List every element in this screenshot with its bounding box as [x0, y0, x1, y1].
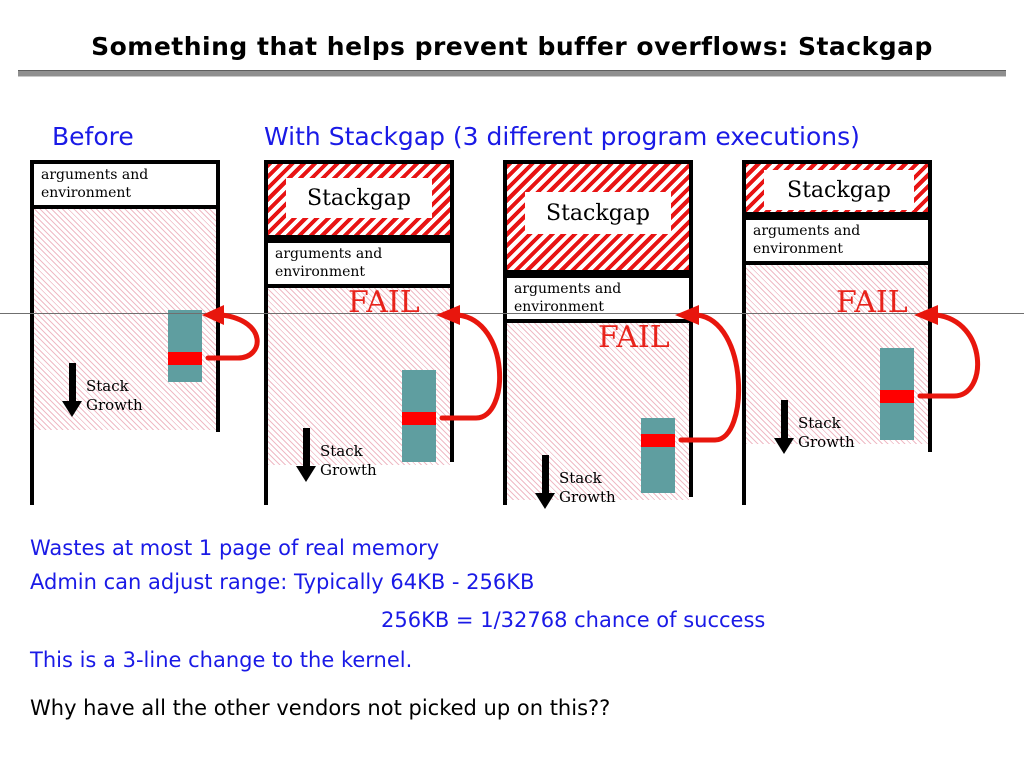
stack-growth-shaft — [303, 428, 310, 466]
heading-before: Before — [52, 122, 134, 151]
stackgap-region-execution-1: Stackgap — [268, 160, 450, 239]
box-top-border-execution-1 — [264, 160, 454, 164]
stack-growth-arrowhead-icon — [774, 438, 794, 454]
args-bottom-border-before — [30, 205, 220, 209]
stack-growth-arrowhead-icon — [296, 466, 316, 482]
args-env-box-execution-3: arguments and environment — [746, 220, 928, 264]
heading-with-stackgap: With Stackgap (3 different program execu… — [264, 122, 860, 151]
args-bottom-border-execution-3 — [742, 261, 932, 265]
stack-growth-label-line1: Stack — [86, 377, 129, 396]
box-top-border-execution-2 — [503, 160, 693, 164]
args-env-box-before: arguments and environment — [34, 164, 216, 208]
stack-growth-label-line2: Growth — [798, 433, 855, 452]
box-top-border-execution-3 — [742, 160, 932, 164]
stack-growth-label-line1: Stack — [320, 442, 363, 461]
stack-growth-label-line1: Stack — [798, 414, 841, 433]
overflow-arrow-execution-3 — [902, 295, 1012, 415]
bullet-line-3: 256KB = 1/32768 chance of success — [381, 608, 765, 632]
stack-growth-shaft — [542, 455, 549, 493]
stack-growth-label-line2: Growth — [86, 396, 143, 415]
stack-growth-label-line2: Growth — [320, 461, 377, 480]
bullet-line-2: Admin can adjust range: Typically 64KB -… — [30, 570, 534, 594]
page-title: Something that helps prevent buffer over… — [0, 32, 1024, 61]
stackgap-label-execution-2: Stackgap — [525, 192, 671, 234]
stackgap-region-execution-2: Stackgap — [507, 160, 689, 274]
stackgap-label-execution-1: Stackgap — [286, 178, 432, 218]
bullet-line-4: This is a 3-line change to the kernel. — [30, 648, 412, 672]
box-top-border-before — [30, 160, 220, 164]
args-env-box-execution-1: arguments and environment — [268, 243, 450, 287]
title-divider — [18, 70, 1006, 77]
args-env-label-line1: arguments and — [41, 166, 148, 184]
args-env-label-line1: arguments and — [275, 245, 382, 263]
args-env-label-line2: environment — [753, 240, 843, 258]
args-env-label-line1: arguments and — [753, 222, 860, 240]
stackgap-label-execution-3: Stackgap — [764, 170, 914, 210]
args-env-label-line2: environment — [41, 184, 131, 202]
args-top-border-execution-2 — [503, 274, 693, 278]
args-env-box-execution-2: arguments and environment — [507, 278, 689, 322]
fail-label-execution-3: FAIL — [836, 285, 908, 320]
overflow-arrow-execution-2 — [663, 295, 773, 455]
args-top-border-execution-1 — [264, 239, 454, 243]
args-env-label-line2: environment — [275, 263, 365, 281]
stack-growth-arrowhead-icon — [62, 401, 82, 417]
stack-growth-label-line2: Growth — [559, 488, 616, 507]
overflow-arrow-execution-1 — [424, 295, 534, 435]
stack-growth-shaft — [69, 363, 76, 401]
overflow-arrow-before — [190, 295, 280, 385]
box-left-border-before — [30, 160, 34, 505]
stackgap-region-execution-3: Stackgap — [746, 160, 928, 216]
stack-growth-shaft — [781, 400, 788, 438]
stack-growth-label-line1: Stack — [559, 469, 602, 488]
slide-canvas: Something that helps prevent buffer over… — [0, 0, 1024, 768]
args-top-border-execution-3 — [742, 216, 932, 220]
fail-label-execution-2: FAIL — [598, 320, 670, 355]
stack-growth-arrowhead-icon — [535, 493, 555, 509]
bullet-line-5: Why have all the other vendors not picke… — [30, 696, 610, 720]
fail-label-execution-1: FAIL — [348, 285, 420, 320]
bullet-line-1: Wastes at most 1 page of real memory — [30, 536, 439, 560]
